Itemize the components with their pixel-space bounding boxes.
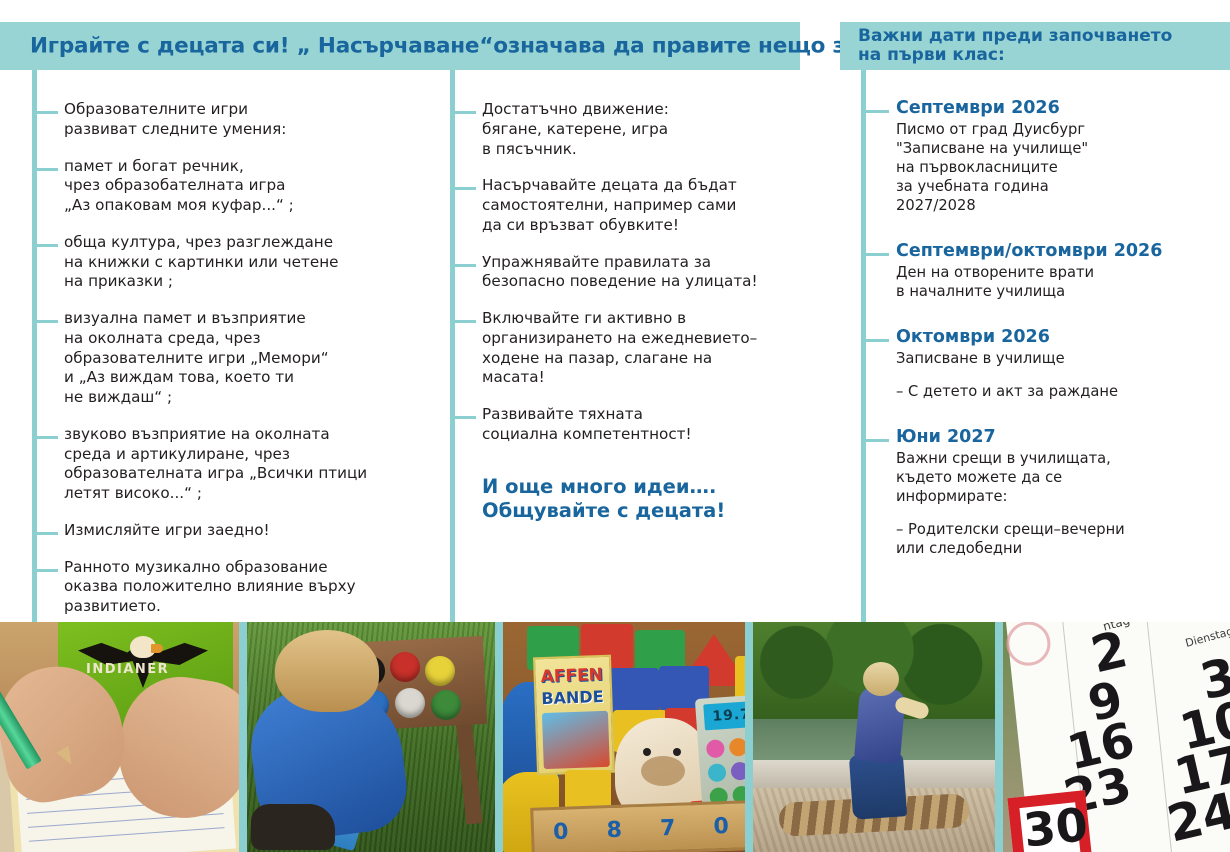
brochure-page: Играйте с децата си! „ Насърчаване“означ… xyxy=(0,0,1230,852)
child-hair xyxy=(275,630,379,712)
date-title: Юни 2027 xyxy=(896,427,1230,448)
game-box-art xyxy=(542,711,610,769)
date-entry: Октомври 2026 Записване в училище – С де… xyxy=(861,327,1230,401)
list-item: звуково възприятие на околната среда и а… xyxy=(32,425,442,504)
date-note: – Родителски срещи–вечерни или следобедн… xyxy=(896,520,1230,558)
counting-board: 0 8 7 0 xyxy=(530,800,745,852)
date-entry: Септември/октомври 2026 Ден на отворенит… xyxy=(861,241,1230,301)
child-writing-photo: INDIANER xyxy=(0,622,239,852)
date-title: Октомври 2026 xyxy=(896,327,1230,348)
child-playground-photo xyxy=(753,622,995,852)
paint-pot xyxy=(390,652,420,682)
bullet-text: Развивайте тяхната социална компетентнос… xyxy=(482,405,800,445)
toys-photo: AFFEN BANDE 19.75 xyxy=(503,622,745,852)
bullet-text: Ранното музикално образование оказва пол… xyxy=(64,558,442,617)
date-entry: Юни 2027 Важни срещи в училищата, където… xyxy=(861,427,1230,558)
list-item: обща култура, чрез разглеждане на книжки… xyxy=(32,233,442,292)
bullet-text: обща култура, чрез разглеждане на книжки… xyxy=(64,233,442,292)
list-item: Образователните игри развиват следните у… xyxy=(32,100,442,140)
game-title-line2: BANDE xyxy=(541,687,604,708)
paint-pot xyxy=(395,688,425,718)
tiger-eye xyxy=(673,748,681,756)
highlighted-date: 30 xyxy=(1007,790,1092,852)
calendar-number: 24 xyxy=(1162,781,1230,852)
paint-pot xyxy=(431,690,461,720)
calendar-dayname: Dienstag xyxy=(1184,625,1230,650)
bullet-text: Достатъчно движение: бягане, катерене, и… xyxy=(482,100,800,159)
register-display: 19.75 xyxy=(703,700,745,731)
column-three-dates: Септември 2026 Писмо от град Дуисбург "З… xyxy=(861,70,1230,584)
date-body: Важни срещи в училищата, където можете д… xyxy=(896,449,1230,506)
date-note: – С детето и акт за раждане xyxy=(896,382,1230,401)
child-shoe xyxy=(251,804,335,850)
left-header-bar: Играйте с децата си! „ Насърчаване“означ… xyxy=(0,22,800,70)
date-body: Записване в училище xyxy=(896,349,1230,368)
stamp-mark-icon xyxy=(1004,622,1052,668)
tshirt-print-text: INDIANER xyxy=(86,662,202,678)
left-header-title: Играйте с децата си! „ Насърчаване“означ… xyxy=(30,34,920,59)
call-to-action-text: И още много идеи…. Общувайте с децата! xyxy=(450,475,800,524)
board-number: 7 xyxy=(660,815,676,841)
child-painting-photo xyxy=(247,622,495,852)
board-number: 8 xyxy=(606,817,622,843)
game-title-line1: AFFEN xyxy=(540,665,603,687)
list-item: Развивайте тяхната социална компетентнос… xyxy=(450,405,800,445)
board-game-box: AFFEN BANDE xyxy=(533,655,615,776)
list-item: Ранното музикално образование оказва пол… xyxy=(32,558,442,617)
calendar-photo: ntag Dienstag So 2 9 16 23 3 10 17 24 30 xyxy=(1003,622,1230,852)
list-item: Достатъчно движение: бягане, катерене, и… xyxy=(450,100,800,159)
right-header-bar: Важни дати преди започването на първи кл… xyxy=(840,22,1230,70)
date-title: Септември 2026 xyxy=(896,98,1230,119)
column-one: Образователните игри развиват следните у… xyxy=(32,70,442,634)
date-title: Септември/октомври 2026 xyxy=(896,241,1230,262)
eagle-beak-icon xyxy=(151,644,163,653)
photo-strip: INDIANER xyxy=(0,622,1230,852)
list-item: Упражнявайте правилата за безопасно пове… xyxy=(450,253,800,293)
date-entry: Септември 2026 Писмо от град Дуисбург "З… xyxy=(861,98,1230,215)
paint-pot xyxy=(425,656,455,686)
list-item: Измисляйте игри заедно! xyxy=(32,521,442,541)
list-item: Насърчавайте децата да бъдат самостоятел… xyxy=(450,176,800,235)
bullet-text: Образователните игри развиват следните у… xyxy=(64,100,442,140)
date-body: Ден на отворените врати в началните учил… xyxy=(896,263,1230,301)
child-legs xyxy=(849,752,907,820)
bullet-text: Упражнявайте правилата за безопасно пове… xyxy=(482,253,800,293)
bullet-text: памет и богат речник, чрез образобателна… xyxy=(64,157,442,216)
child-head xyxy=(863,662,899,696)
bullet-text: Включвайте ги активно в организирането н… xyxy=(482,309,800,388)
list-item: визуална памет и възприятие на околната … xyxy=(32,309,442,408)
board-number: 0 xyxy=(553,819,569,845)
right-header-title: Важни дати преди започването на първи кл… xyxy=(858,27,1172,65)
bullet-text: Насърчавайте децата да бъдат самостоятел… xyxy=(482,176,800,235)
date-body: Писмо от град Дуисбург "Записване на учи… xyxy=(896,120,1230,216)
column-two: Достатъчно движение: бягане, катерене, и… xyxy=(450,70,800,524)
highlighted-date-number: 30 xyxy=(1021,797,1090,852)
list-item: Включвайте ги активно в организирането н… xyxy=(450,309,800,388)
bullet-text: визуална памет и възприятие на околната … xyxy=(64,309,442,408)
bullet-text: Измисляйте игри заедно! xyxy=(64,521,442,541)
board-number: 0 xyxy=(713,813,729,839)
bullet-text: звуково възприятие на околната среда и а… xyxy=(64,425,442,504)
tiger-eye xyxy=(643,748,651,756)
list-item: памет и богат речник, чрез образобателна… xyxy=(32,157,442,216)
